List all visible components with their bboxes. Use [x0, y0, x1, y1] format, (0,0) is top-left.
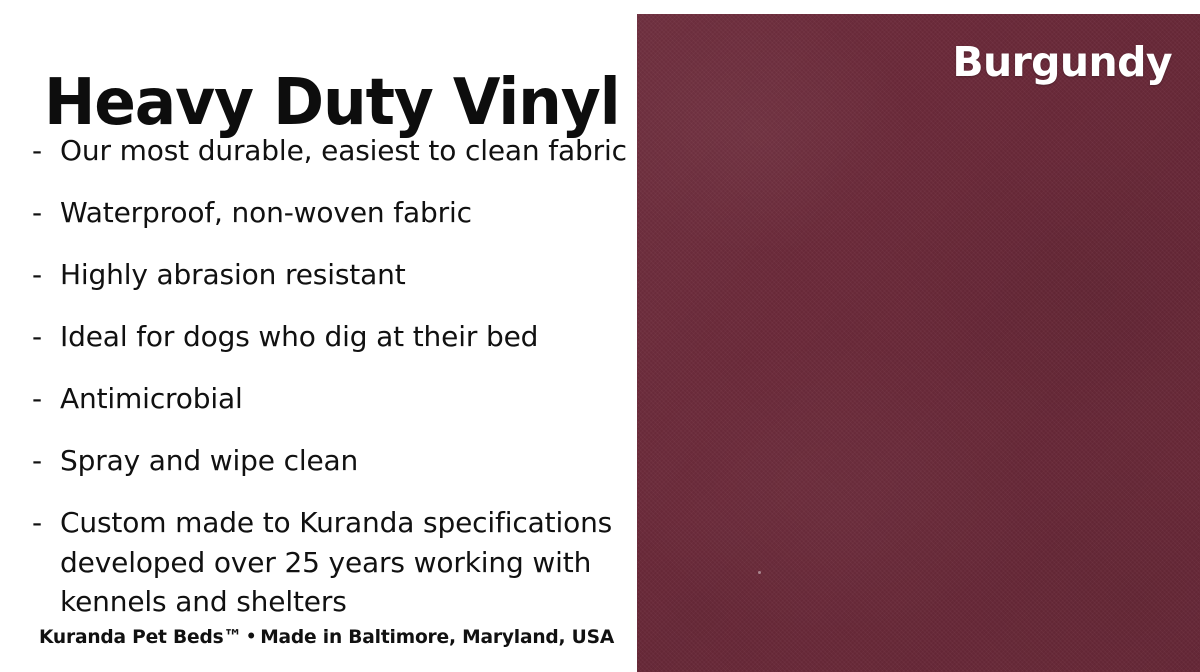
feature-text: Ideal for dogs who dig at their bed: [60, 317, 630, 357]
bullet-dash-icon: -: [32, 441, 42, 481]
product-info-panel: Heavy Duty Vinyl - Our most durable, eas…: [0, 0, 637, 672]
footer-credit: Kuranda Pet Beds™•Made in Baltimore, Mar…: [39, 626, 614, 648]
list-item: - Antimicrobial: [30, 379, 630, 419]
bullet-dash-icon: -: [32, 131, 42, 171]
color-swatch: Burgundy: [637, 14, 1200, 672]
feature-text: Highly abrasion resistant: [60, 255, 630, 295]
feature-text: Our most durable, easiest to clean fabri…: [60, 131, 630, 171]
feature-list: - Our most durable, easiest to clean fab…: [30, 131, 630, 622]
swatch-speck: [758, 571, 761, 574]
list-item: - Ideal for dogs who dig at their bed: [30, 317, 630, 357]
bullet-dash-icon: -: [32, 193, 42, 233]
list-item: - Our most durable, easiest to clean fab…: [30, 131, 630, 171]
feature-text: Waterproof, non-woven fabric: [60, 193, 630, 233]
product-color-slide: Heavy Duty Vinyl - Our most durable, eas…: [0, 0, 1200, 672]
bullet-dash-icon: -: [32, 317, 42, 357]
feature-text: Antimicrobial: [60, 379, 630, 419]
bullet-dash-icon: -: [32, 503, 42, 543]
feature-text: Custom made to Kuranda specifications de…: [60, 503, 630, 622]
list-item: - Spray and wipe clean: [30, 441, 630, 481]
bullet-dash-icon: -: [32, 379, 42, 419]
swatch-texture: [637, 14, 1200, 672]
color-name-label: Burgundy: [952, 38, 1172, 86]
bullet-separator-icon: •: [242, 627, 260, 647]
page-title: Heavy Duty Vinyl: [44, 68, 620, 140]
swatch-vignette: [637, 14, 1200, 672]
list-item: - Waterproof, non-woven fabric: [30, 193, 630, 233]
bullet-dash-icon: -: [32, 255, 42, 295]
list-item: - Highly abrasion resistant: [30, 255, 630, 295]
list-item: - Custom made to Kuranda specifications …: [30, 503, 630, 622]
brand-name: Kuranda Pet Beds™: [39, 626, 242, 648]
origin-text: Made in Baltimore, Maryland, USA: [260, 626, 614, 648]
feature-text: Spray and wipe clean: [60, 441, 630, 481]
